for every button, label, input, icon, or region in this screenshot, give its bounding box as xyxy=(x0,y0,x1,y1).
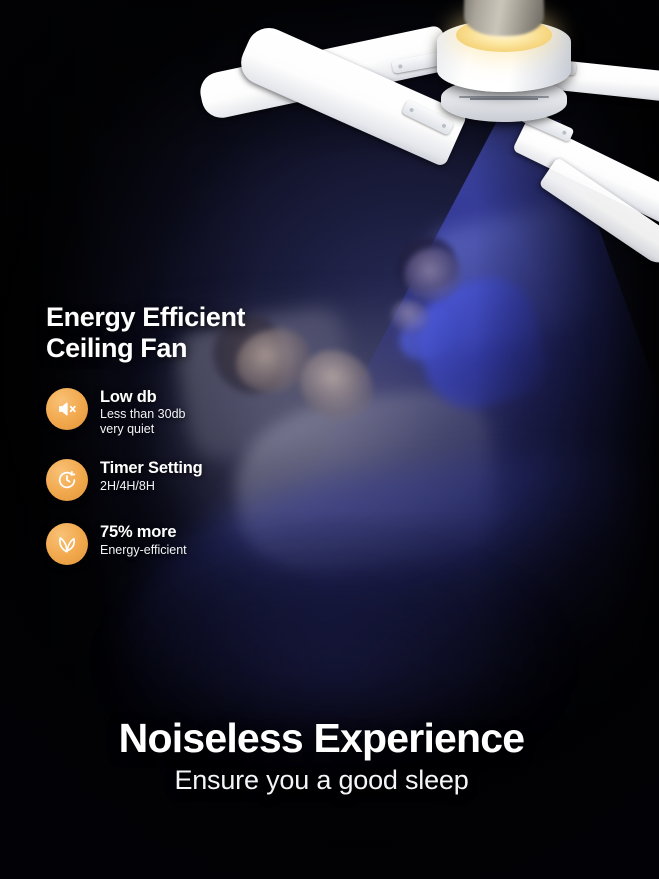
speaker-mute-icon xyxy=(46,388,88,430)
feature-subtitle: 2H/4H/8H xyxy=(100,479,203,494)
fan-hub-seam xyxy=(470,98,538,100)
bottom-title: Noiseless Experience xyxy=(0,718,643,759)
feature-title: Timer Setting xyxy=(100,459,203,477)
fan-motor-stem xyxy=(464,0,544,36)
feature-item-timer: Timer Setting 2H/4H/8H xyxy=(46,459,326,501)
product-feature-poster: Energy Efficient Ceiling Fan Low db Less… xyxy=(0,0,659,879)
bottom-message: Noiseless Experience Ensure you a good s… xyxy=(0,718,659,796)
page-title: Energy Efficient Ceiling Fan xyxy=(46,302,245,364)
leaf-eco-icon xyxy=(46,523,88,565)
feature-list: Low db Less than 30db very quiet Timer S… xyxy=(46,388,326,587)
feature-text: Timer Setting 2H/4H/8H xyxy=(100,459,203,493)
feature-title: Low db xyxy=(100,388,186,406)
feature-title: 75% more xyxy=(100,523,187,541)
ceiling-fan xyxy=(0,0,659,254)
feature-text: 75% more Energy-efficient xyxy=(100,523,187,557)
feature-item-low-db: Low db Less than 30db very quiet xyxy=(46,388,326,437)
timer-clock-icon xyxy=(46,459,88,501)
feature-text: Low db Less than 30db very quiet xyxy=(100,388,186,437)
feature-subtitle: Energy-efficient xyxy=(100,543,187,558)
feature-subtitle: Less than 30db very quiet xyxy=(100,407,186,437)
bottom-subtitle: Ensure you a good sleep xyxy=(0,765,643,796)
feature-item-energy: 75% more Energy-efficient xyxy=(46,523,326,565)
